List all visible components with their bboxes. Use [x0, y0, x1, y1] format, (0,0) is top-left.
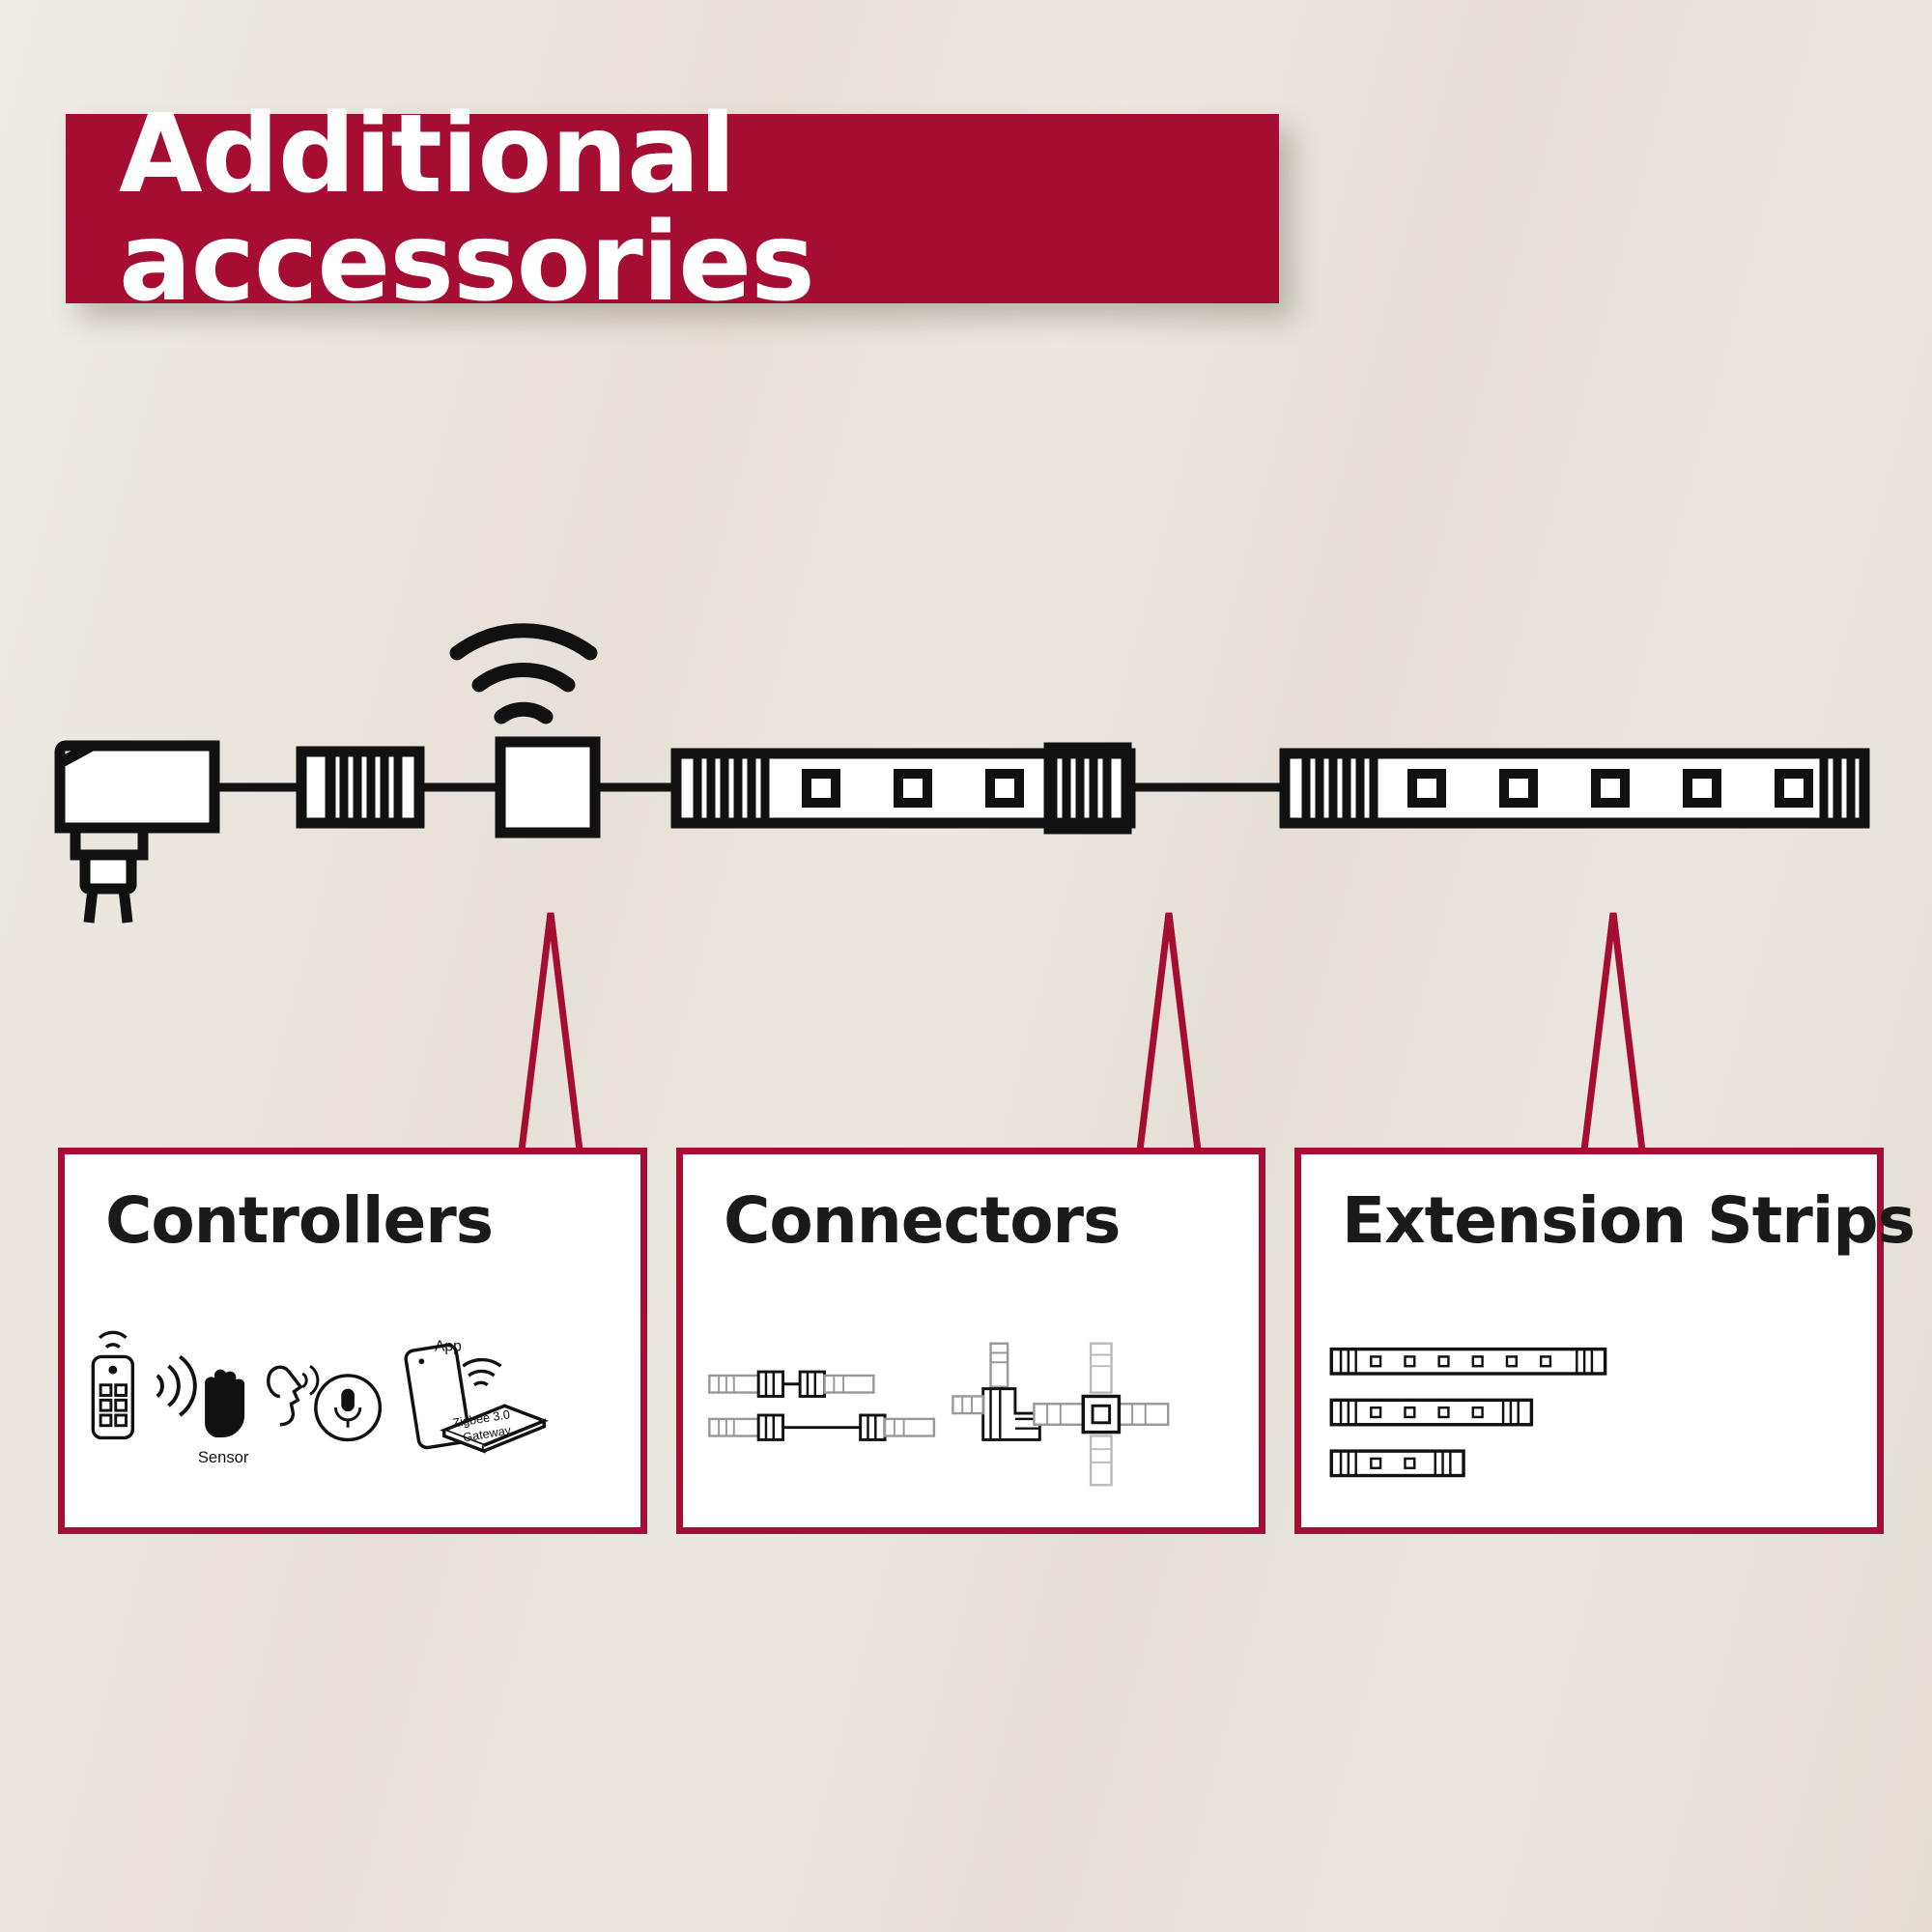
card-connectors-title: Connectors — [724, 1183, 1120, 1258]
app-label: App — [435, 1339, 462, 1355]
inline-connector-1 — [301, 752, 419, 823]
pointer-connectors — [1140, 913, 1198, 1151]
card-controllers-title: Controllers — [105, 1183, 493, 1258]
wifi-icon — [457, 631, 590, 717]
card-extension-strips-art — [1301, 1299, 1877, 1531]
extension-strip-long-icon — [1331, 1350, 1605, 1374]
led-strip-1 — [676, 753, 1130, 823]
power-supply-icon — [60, 746, 214, 923]
remote-control-icon — [93, 1332, 132, 1437]
voice-assistant-icon — [269, 1366, 381, 1439]
card-controllers[interactable]: Controllers — [58, 1148, 647, 1534]
strip-to-strip-connector-icon — [709, 1372, 934, 1439]
card-extension-strips[interactable]: Extension Strips — [1294, 1148, 1884, 1534]
extension-strip-short-icon — [1331, 1451, 1463, 1475]
extension-strip-medium-icon — [1331, 1400, 1531, 1424]
motion-sensor-hand-icon — [157, 1356, 243, 1435]
controller-box-icon — [500, 742, 595, 833]
pointer-controllers — [522, 913, 580, 1151]
callout-pointers — [522, 913, 1642, 1151]
cross-connector-icon — [1034, 1344, 1168, 1486]
card-extension-strips-title: Extension Strips — [1342, 1183, 1915, 1258]
corner-connector-icon — [952, 1344, 1039, 1440]
card-connectors-art — [683, 1299, 1259, 1531]
system-chain-diagram — [0, 0, 1932, 1932]
card-controllers-art: Sensor — [65, 1299, 640, 1531]
pointer-extension — [1584, 913, 1642, 1151]
poster-root: Additional accessories — [0, 0, 1932, 1932]
sensor-label: Sensor — [198, 1448, 249, 1466]
card-connectors[interactable]: Connectors — [676, 1148, 1265, 1534]
led-strip-2 — [1285, 753, 1864, 823]
zigbee-wifi-icon — [463, 1360, 500, 1385]
